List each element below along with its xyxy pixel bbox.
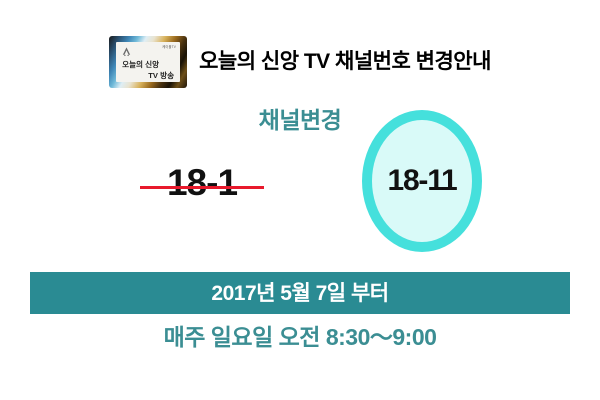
logo-corner-text: 케이블TV: [162, 46, 176, 49]
logo-mark-icon: [121, 46, 132, 57]
schedule-text: 매주 일요일 오전 8:30～9:00: [0, 324, 600, 352]
broadcast-logo: 케이블TV 오늘의 신앙 TV 방송: [109, 36, 187, 88]
poster-title: 오늘의 신앙 TV 채널번호 변경안내: [199, 50, 491, 73]
change-label: 채널변경: [0, 108, 600, 133]
new-channel-number: 18-11: [387, 166, 456, 196]
old-channel-group: 18-1: [132, 160, 272, 210]
channel-change-poster: 케이블TV 오늘의 신앙 TV 방송 오늘의 신앙 TV 채널번호 변경안내 채…: [0, 0, 600, 400]
effective-date-text: 2017년 5월 7일 부터: [211, 283, 388, 304]
effective-date-banner: 2017년 5월 7일 부터: [30, 272, 570, 314]
poster-header: 케이블TV 오늘의 신앙 TV 방송 오늘의 신앙 TV 채널번호 변경안내: [0, 33, 600, 91]
old-channel-number: 18-1: [132, 160, 272, 206]
logo-inner-panel: 케이블TV 오늘의 신앙 TV 방송: [116, 42, 180, 82]
strikethrough-line: [140, 186, 264, 189]
new-channel-oval: 18-11: [362, 110, 482, 252]
logo-text-line1: 오늘의 신앙: [122, 61, 159, 69]
logo-text-line2: TV 방송: [148, 72, 174, 80]
